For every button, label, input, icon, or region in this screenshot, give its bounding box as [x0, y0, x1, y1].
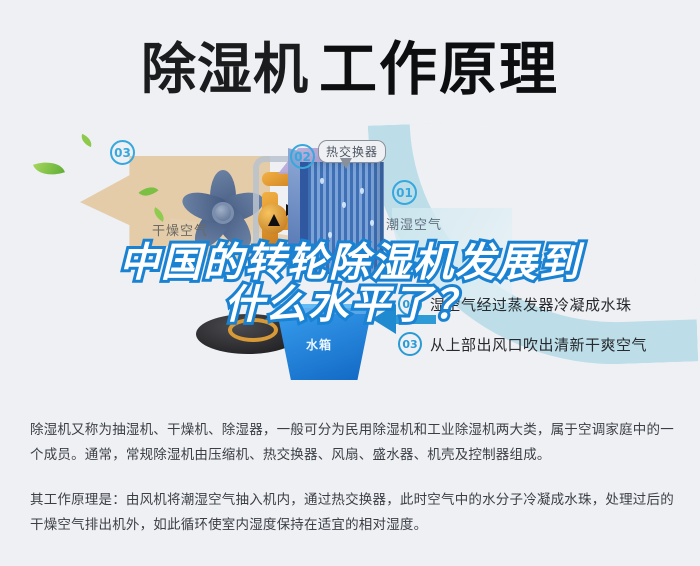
body-paragraph-1: 除湿机又称为抽湿机、干燥机、除湿器，一般可分为民用除湿机和工业除湿机两大类，属于…: [30, 418, 675, 468]
step-item: 02 湿空气经过蒸发器冷凝成水珠: [398, 292, 698, 316]
callout-badge-03: 03: [110, 140, 135, 165]
body-paragraph-2: 其工作原理是：由风机将潮湿空气抽入机内，通过热交换器，此时空气中的水分子冷凝成水…: [30, 488, 675, 538]
callout-bubble-tail: [340, 158, 352, 169]
humid-airflow-arrow-head: [372, 304, 396, 334]
condensate-drop: [370, 220, 374, 226]
leaf-icon: [79, 134, 94, 147]
callout-badge-02: 02: [290, 144, 315, 169]
fan-hub: [212, 202, 234, 224]
infographic-page: 除湿机工作原理: [0, 0, 700, 566]
condensate-drop: [328, 232, 332, 238]
base-coil: [228, 318, 278, 342]
condensate-drop: [320, 178, 324, 184]
body-text: 除湿机又称为抽湿机、干燥机、除湿器，一般可分为民用除湿机和工业除湿机两大类，属于…: [30, 418, 675, 538]
title-part-2: 工作原理: [319, 35, 559, 103]
callout-label-heat-exchanger: 热交换器: [318, 140, 386, 163]
page-title: 除湿机工作原理: [0, 22, 700, 106]
callout-label-humid-air: 潮湿空气: [386, 214, 442, 233]
step-badge: 03: [398, 332, 422, 356]
step-item: 03 从上部出风口吹出清新干爽空气: [398, 332, 698, 356]
callout-label-dry-air: 干燥空气: [152, 220, 208, 239]
condensate-drop: [360, 188, 364, 194]
step-text: 湿空气经过蒸发器冷凝成水珠: [430, 294, 632, 315]
condensate-drop: [354, 250, 358, 256]
water-tank-label: 水箱: [306, 336, 332, 353]
step-list: 02 湿空气经过蒸发器冷凝成水珠 03 从上部出风口吹出清新干爽空气: [398, 292, 698, 372]
callout-badge-01: 01: [392, 180, 417, 205]
step-text: 从上部出风口吹出清新干爽空气: [430, 334, 647, 355]
leaf-icon: [33, 156, 65, 181]
flow-arrow-up-icon: [268, 214, 280, 226]
heat-exchanger-fins: [300, 162, 384, 274]
title-part-1: 除湿机: [141, 37, 309, 101]
step-badge: 02: [398, 292, 422, 316]
condensate-drop: [342, 202, 346, 208]
